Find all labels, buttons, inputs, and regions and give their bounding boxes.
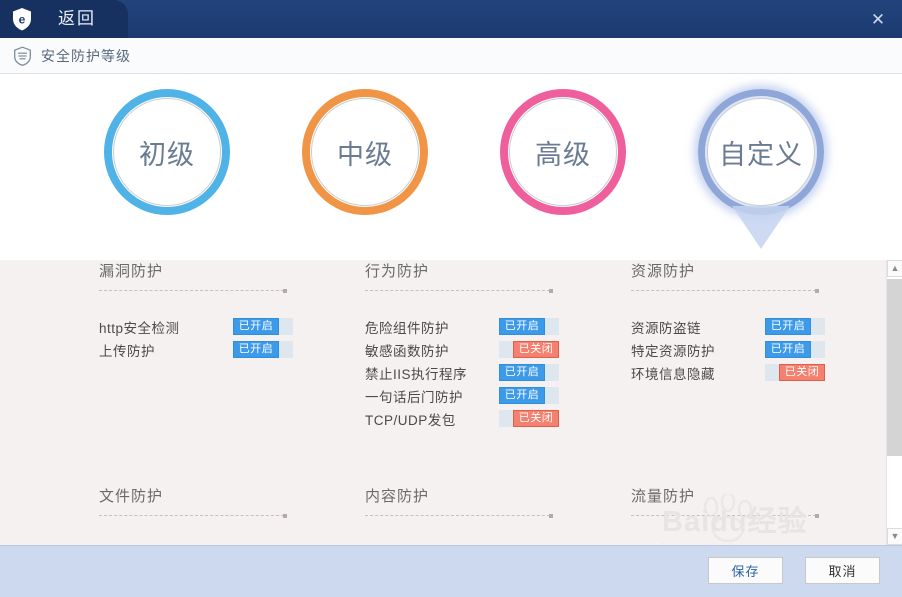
toggle-state-label: 已开启 bbox=[765, 318, 811, 335]
section-behavior-protection: 行为防护 危险组件防护 已开启 敏感函数防护 已关闭 bbox=[365, 260, 559, 430]
scroll-down-icon[interactable]: ▼ bbox=[887, 528, 902, 545]
toggle-state-label: 已开启 bbox=[233, 318, 279, 335]
section-file-protection: 文件防护 bbox=[99, 485, 284, 516]
setting-toggle[interactable]: 已开启 bbox=[233, 341, 293, 358]
setting-toggle[interactable]: 已关闭 bbox=[499, 410, 559, 427]
setting-row: 资源防盗链 已开启 bbox=[631, 315, 825, 338]
setting-label: http安全检测 bbox=[99, 317, 233, 337]
setting-row: 禁止IIS执行程序 已开启 bbox=[365, 361, 559, 384]
setting-row: 敏感函数防护 已关闭 bbox=[365, 338, 559, 361]
section-title: 行为防护 bbox=[365, 260, 559, 290]
setting-label: 上传防护 bbox=[99, 340, 233, 360]
setting-row: TCP/UDP发包 已关闭 bbox=[365, 407, 559, 430]
section-divider bbox=[99, 290, 284, 291]
selected-pin-indicator bbox=[732, 206, 790, 249]
setting-label: 敏感函数防护 bbox=[365, 340, 499, 360]
setting-label: TCP/UDP发包 bbox=[365, 409, 499, 429]
toggle-state-label: 已关闭 bbox=[513, 410, 559, 427]
section-items: 危险组件防护 已开启 敏感函数防护 已关闭 禁止IIS执行程序 bbox=[365, 315, 559, 430]
baidu-paw-watermark-icon bbox=[698, 494, 758, 544]
shield-e-logo-icon: e bbox=[9, 6, 35, 32]
setting-row: 一句话后门防护 已开启 bbox=[365, 384, 559, 407]
level-circle-high[interactable]: 高级 bbox=[500, 89, 626, 215]
section-divider bbox=[631, 290, 816, 291]
scroll-up-icon[interactable]: ▲ bbox=[887, 260, 902, 277]
level-label-medium: 中级 bbox=[337, 133, 393, 172]
level-circle-custom[interactable]: 自定义 bbox=[698, 89, 824, 215]
cancel-button[interactable]: 取消 bbox=[805, 557, 880, 584]
security-level-selector: 初级 中级 高级 自定义 bbox=[0, 75, 902, 260]
settings-scrollbar[interactable]: ▲ ▼ bbox=[886, 260, 902, 545]
section-title: 资源防护 bbox=[631, 260, 825, 290]
save-button[interactable]: 保存 bbox=[708, 557, 783, 584]
section-title: 文件防护 bbox=[99, 485, 284, 515]
setting-row: 危险组件防护 已开启 bbox=[365, 315, 559, 338]
setting-label: 禁止IIS执行程序 bbox=[365, 363, 499, 383]
setting-toggle[interactable]: 已开启 bbox=[499, 318, 559, 335]
level-circle-medium[interactable]: 中级 bbox=[302, 89, 428, 215]
setting-label: 危险组件防护 bbox=[365, 317, 499, 337]
level-option-high[interactable]: 高级 bbox=[495, 89, 631, 255]
toggle-state-label: 已开启 bbox=[765, 341, 811, 358]
section-divider bbox=[365, 290, 550, 291]
setting-toggle[interactable]: 已开启 bbox=[765, 341, 825, 358]
section-items: 资源防盗链 已开启 特定资源防护 已开启 环境信息隐藏 bbox=[631, 315, 825, 384]
level-label-custom: 自定义 bbox=[719, 133, 803, 172]
section-title: 内容防护 bbox=[365, 485, 550, 515]
level-option-custom[interactable]: 自定义 bbox=[693, 89, 829, 255]
toggle-state-label: 已关闭 bbox=[513, 341, 559, 358]
toggle-state-label: 已开启 bbox=[499, 318, 545, 335]
level-option-medium[interactable]: 中级 bbox=[297, 89, 433, 255]
svg-text:e: e bbox=[19, 13, 26, 27]
subheader: 安全防护等级 bbox=[0, 38, 902, 74]
app-window: e 返回 ✕ 安全防护等级 初级 bbox=[0, 0, 902, 597]
setting-toggle[interactable]: 已开启 bbox=[499, 387, 559, 404]
toggle-state-label: 已开启 bbox=[499, 364, 545, 381]
scrollbar-thumb[interactable] bbox=[887, 279, 902, 456]
close-icon[interactable]: ✕ bbox=[862, 6, 894, 32]
toggle-state-label: 已开启 bbox=[499, 387, 545, 404]
setting-row: 特定资源防护 已开启 bbox=[631, 338, 825, 361]
level-label-beginner: 初级 bbox=[139, 133, 195, 172]
setting-toggle[interactable]: 已关闭 bbox=[765, 364, 825, 381]
toggle-state-label: 已开启 bbox=[233, 341, 279, 358]
section-title: 漏洞防护 bbox=[99, 260, 293, 290]
setting-label: 一句话后门防护 bbox=[365, 386, 499, 406]
setting-row: 上传防护 已开启 bbox=[99, 338, 293, 361]
setting-row: http安全检测 已开启 bbox=[99, 315, 293, 338]
toggle-state-label: 已关闭 bbox=[779, 364, 825, 381]
section-divider bbox=[99, 515, 284, 516]
setting-toggle[interactable]: 已关闭 bbox=[499, 341, 559, 358]
level-label-high: 高级 bbox=[535, 133, 591, 172]
setting-label: 资源防盗链 bbox=[631, 317, 765, 337]
titlebar: e 返回 ✕ bbox=[0, 0, 902, 38]
section-items: http安全检测 已开启 上传防护 已开启 bbox=[99, 315, 293, 361]
level-option-beginner[interactable]: 初级 bbox=[99, 89, 235, 255]
setting-toggle[interactable]: 已开启 bbox=[499, 364, 559, 381]
setting-toggle[interactable]: 已开启 bbox=[765, 318, 825, 335]
section-vulnerability-protection: 漏洞防护 http安全检测 已开启 上传防护 已开启 bbox=[99, 260, 293, 361]
section-resource-protection: 资源防护 资源防盗链 已开启 特定资源防护 已开启 bbox=[631, 260, 825, 384]
page-title: 安全防护等级 bbox=[41, 46, 131, 66]
level-circle-beginner[interactable]: 初级 bbox=[104, 89, 230, 215]
footer-bar: 保存 取消 bbox=[0, 545, 902, 597]
setting-label: 特定资源防护 bbox=[631, 340, 765, 360]
setting-row: 环境信息隐藏 已关闭 bbox=[631, 361, 825, 384]
back-button-label[interactable]: 返回 bbox=[58, 8, 96, 30]
setting-label: 环境信息隐藏 bbox=[631, 363, 765, 383]
shield-icon bbox=[13, 46, 32, 66]
setting-toggle[interactable]: 已开启 bbox=[233, 318, 293, 335]
section-content-protection: 内容防护 bbox=[365, 485, 550, 516]
section-divider bbox=[365, 515, 550, 516]
